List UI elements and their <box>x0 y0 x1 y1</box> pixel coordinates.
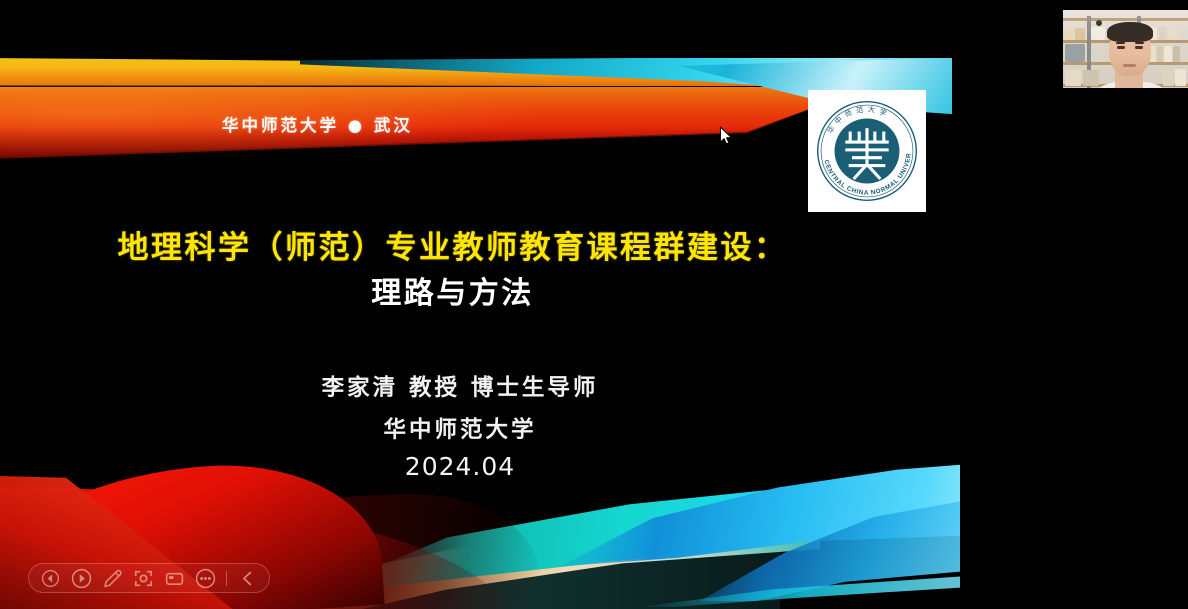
presenter-name: 李家清 教授 博士生导师 <box>0 370 920 402</box>
camera-light-overlay <box>1063 10 1188 88</box>
toolbar-divider <box>226 571 227 586</box>
pen-icon[interactable] <box>99 565 126 592</box>
slide-title-line1: 地理科学（师范）专业教师教育课程群建设： <box>0 222 905 267</box>
school-location-text: 华中师范大学 ● 武汉 <box>222 112 413 136</box>
camera-video-feed <box>1063 10 1188 88</box>
university-logo: 华中师范大学 CENTRAL CHINA NORMAL UNIVERSITY <box>808 90 926 212</box>
next-slide-icon[interactable] <box>68 565 95 592</box>
presenter-camera-tile[interactable] <box>1063 0 1188 96</box>
slide-view-icon[interactable] <box>161 565 188 592</box>
presentation-slide[interactable]: 华中师范大学 ● 武汉 华中师范大学 CENTRAL CHINA NORMAL … <box>0 0 960 609</box>
slide-title-line2: 理路与方法 <box>0 268 905 312</box>
more-options-icon[interactable] <box>192 565 219 592</box>
screen-share-view: 华中师范大学 ● 武汉 华中师范大学 CENTRAL CHINA NORMAL … <box>0 0 1188 609</box>
presenter-affiliation: 华中师范大学 <box>0 412 920 444</box>
laser-focus-icon[interactable] <box>130 565 157 592</box>
previous-slide-icon[interactable] <box>37 565 64 592</box>
university-seal-icon: 华中师范大学 CENTRAL CHINA NORMAL UNIVERSITY <box>811 95 923 207</box>
presentation-toolbar[interactable] <box>28 563 270 593</box>
mouse-cursor <box>719 126 733 146</box>
collapse-chevron-icon[interactable] <box>234 565 261 592</box>
